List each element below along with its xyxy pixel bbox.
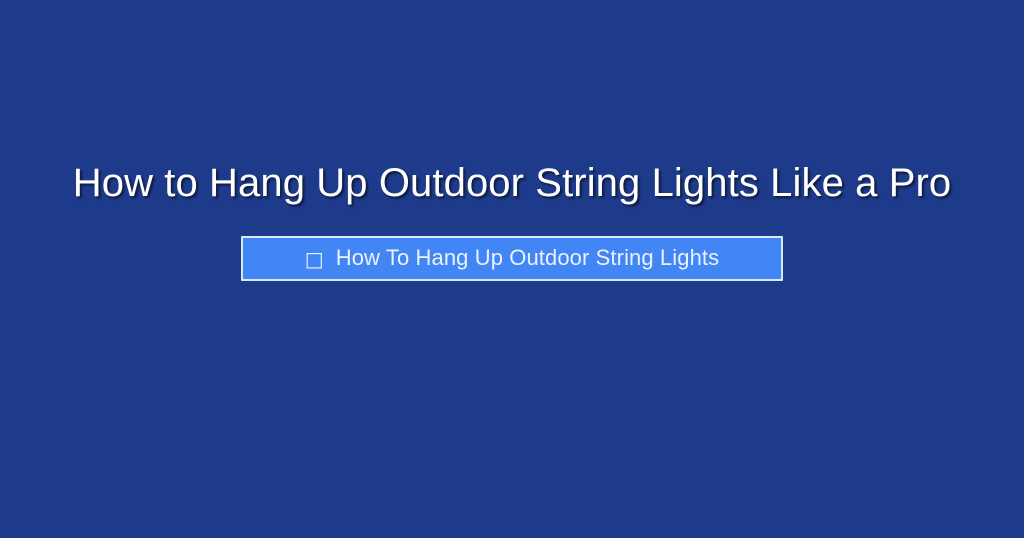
cta-row: □ How To Hang Up Outdoor String Lights	[0, 236, 1024, 281]
hero-section: How to Hang Up Outdoor String Lights Lik…	[0, 0, 1024, 538]
missing-glyph-tofu-icon: □	[305, 249, 324, 269]
page-title: How to Hang Up Outdoor String Lights Lik…	[0, 161, 1024, 206]
watch-video-button[interactable]: □ How To Hang Up Outdoor String Lights	[241, 236, 783, 281]
page-root: How to Hang Up Outdoor String Lights Lik…	[0, 0, 1024, 538]
watch-video-button-label: How To Hang Up Outdoor String Lights	[336, 247, 720, 269]
